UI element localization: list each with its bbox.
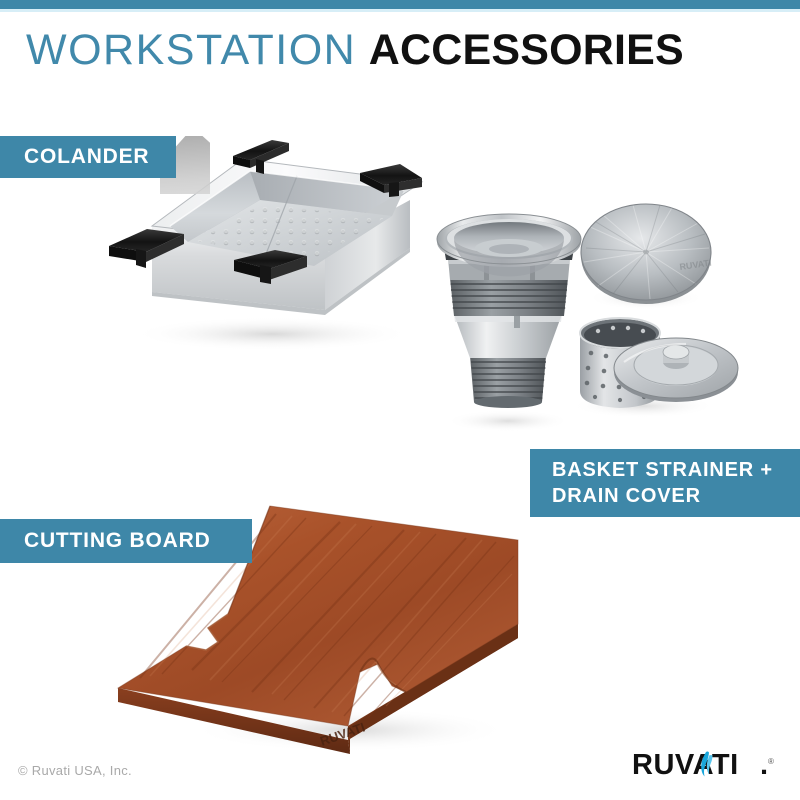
top-accent-bar-light [0, 9, 800, 12]
ruvati-logo-text: RUVATI [632, 749, 739, 781]
page-title: WORKSTATION ACCESSORIES [26, 24, 684, 76]
ruvati-registered-mark: ® [768, 757, 774, 766]
page-title-light: WORKSTATION [26, 26, 356, 74]
ruvati-logo: RUVATI . ® [632, 748, 782, 782]
drain-body-shadow [446, 410, 570, 432]
ruvati-logo-period: . [760, 749, 768, 781]
label-cutting-board: CUTTING BOARD [0, 519, 252, 563]
label-basket-strainer: BASKET STRAINER + DRAIN COVER [530, 449, 800, 517]
label-basket-strainer-line2: DRAIN COVER [552, 483, 800, 509]
strainer-lid [614, 338, 738, 402]
colander-shadow [132, 317, 412, 351]
basket-strainer-image: RUVATI [428, 186, 748, 446]
drain-body [437, 214, 581, 408]
drain-cover-disc: RUVATI [581, 204, 712, 304]
top-accent-bar [0, 0, 800, 9]
page-title-bold: ACCESSORIES [369, 26, 684, 74]
ruvati-logo-svg: RUVATI . ® [632, 748, 782, 782]
colander-image [92, 96, 442, 356]
product-accessories-poster: WORKSTATION ACCESSORIES [0, 0, 800, 800]
label-colander: COLANDER [0, 136, 176, 178]
label-basket-strainer-line1: BASKET STRAINER + [552, 457, 800, 483]
